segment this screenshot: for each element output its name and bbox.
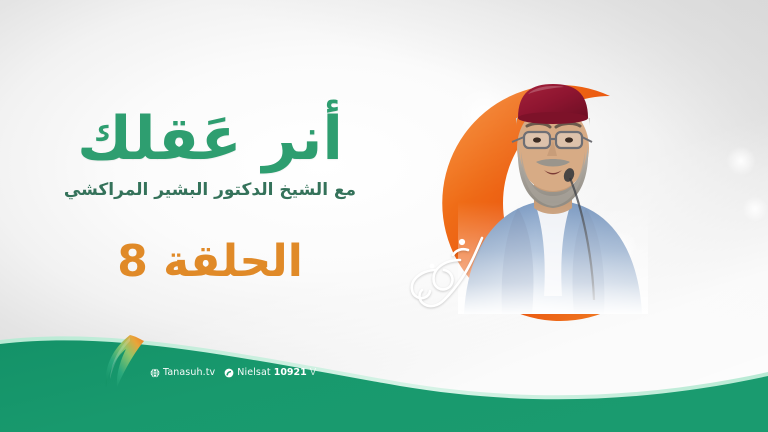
satellite-polarization: V — [310, 367, 317, 378]
website-label: Tanasuh.tv — [163, 367, 215, 378]
channel-info-row: Tanasuh.tv Nielsat 10921 V — [150, 367, 316, 378]
page-title: أنر عَقلك — [0, 108, 420, 171]
presenter-subtitle: مع الشيخ الدكتور البشير المراكشي — [0, 179, 420, 201]
satellite-name-label: Nielsat — [237, 367, 270, 378]
headline-block: أنر عَقلك مع الشيخ الدكتور البشير المراك… — [0, 108, 420, 201]
website-info[interactable]: Tanasuh.tv — [150, 367, 215, 378]
satellite-info: Nielsat 10921 V — [224, 367, 316, 378]
bokeh-highlight — [742, 196, 768, 222]
bokeh-highlight — [726, 146, 756, 176]
broadcast-promo-poster: أنر عَقلك مع الشيخ الدكتور البشير المراك… — [0, 0, 768, 432]
satellite-frequency: 10921 — [274, 367, 307, 378]
feather-leaf-logo-icon — [100, 333, 150, 391]
satellite-dish-icon — [224, 368, 234, 378]
episode-label: الحلقة 8 — [0, 236, 420, 287]
crescent-portrait-group — [396, 78, 664, 328]
globe-icon — [150, 368, 160, 378]
